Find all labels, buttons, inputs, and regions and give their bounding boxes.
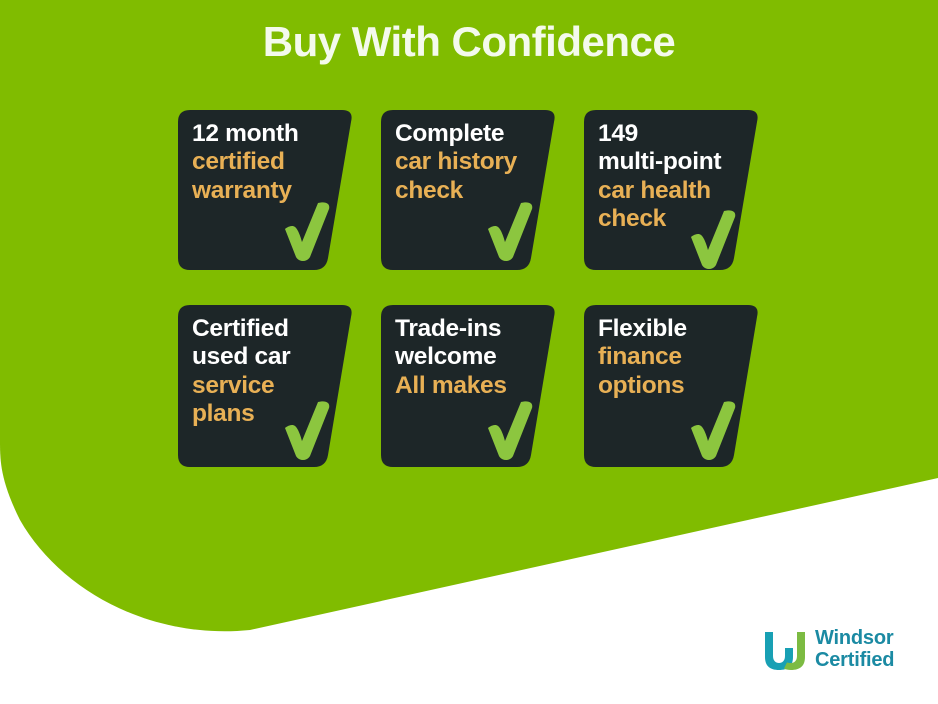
card-line: certified	[192, 148, 336, 176]
card-line: used car	[192, 343, 336, 371]
card-line: finance	[598, 343, 742, 371]
card-complete-car-history-check[interactable]: Complete car history check	[381, 110, 557, 270]
card-line: car health	[598, 177, 742, 205]
feature-cards-row-2: Certified used car service plans	[178, 305, 778, 465]
card-text-block: Certified used car service plans	[192, 315, 336, 429]
logo-wordmark: Windsor Certified	[815, 627, 894, 672]
card-text-block: Complete car history check	[395, 120, 539, 205]
feature-cards-grid: 12 month certified warranty	[178, 110, 778, 500]
card-line: options	[598, 372, 742, 400]
logo-line-windsor: Windsor	[815, 627, 894, 649]
poster-canvas: Buy With Confidence 12 month certified w…	[0, 0, 938, 704]
card-trade-ins-welcome-all-makes[interactable]: Trade-ins welcome All makes	[381, 305, 557, 467]
card-line: All makes	[395, 372, 539, 400]
logo-line-certified: Certified	[815, 649, 894, 671]
card-flexible-finance-options[interactable]: Flexible finance options	[584, 305, 760, 467]
card-line: Complete	[395, 120, 539, 148]
card-line: car history	[395, 148, 539, 176]
card-line: warranty	[192, 177, 336, 205]
card-line: Trade-ins	[395, 315, 539, 343]
card-line: Certified	[192, 315, 336, 343]
windsor-certified-logo[interactable]: Windsor Certified	[762, 626, 894, 672]
card-text-block: Trade-ins welcome All makes	[395, 315, 539, 400]
card-text-block: 149 multi-point car health check	[598, 120, 742, 234]
card-text-block: 12 month certified warranty	[192, 120, 336, 205]
card-line: plans	[192, 400, 336, 428]
card-line: check	[598, 205, 742, 233]
card-line: 149	[598, 120, 742, 148]
card-text-block: Flexible finance options	[598, 315, 742, 400]
card-149-multi-point-car-health-check[interactable]: 149 multi-point car health check	[584, 110, 760, 270]
card-line: check	[395, 177, 539, 205]
card-line: service	[192, 372, 336, 400]
card-line: welcome	[395, 343, 539, 371]
card-12-month-certified-warranty[interactable]: 12 month certified warranty	[178, 110, 354, 270]
windsor-w-icon	[762, 626, 808, 672]
feature-cards-row-1: 12 month certified warranty	[178, 110, 778, 270]
card-line: 12 month	[192, 120, 336, 148]
card-line: multi-point	[598, 148, 742, 176]
page-title: Buy With Confidence	[0, 18, 938, 66]
card-certified-used-car-service-plans[interactable]: Certified used car service plans	[178, 305, 354, 467]
card-line: Flexible	[598, 315, 742, 343]
